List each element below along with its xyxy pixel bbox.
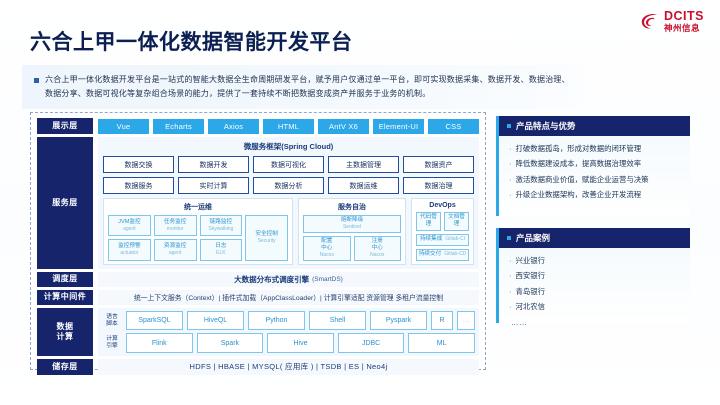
list-item: ·激活数据商业价值，赋能企业运营与决策 <box>509 174 680 185</box>
dot-icon: · <box>509 301 511 312</box>
language-chip[interactable]: R <box>431 311 453 331</box>
microservice-framework-title: 微服务框架(Spring Cloud) <box>103 141 474 152</box>
panel-devops: DevOps 代码管理 文档管理 持续集成 Gitlab-CI <box>411 198 474 265</box>
language-chip[interactable]: HiveQL <box>187 311 244 331</box>
brand-name-en: DCITS <box>664 10 704 23</box>
tech-tag[interactable]: Element-UI <box>373 119 424 134</box>
card-advantages: 产品特点与优势 ·打破数据孤岛，形成对数据的闭环管理 ·降低数据建设成本，提高数… <box>496 116 690 216</box>
layer-service: 服务层 微服务框架(Spring Cloud) 数据交换 数据开发 数据可视化 … <box>37 137 479 269</box>
list-item: ·打破数据孤岛，形成对数据的闭环管理 <box>509 143 680 154</box>
devops-cell-ci[interactable]: 持续集成 Gitlab-CI <box>416 234 469 246</box>
dot-icon: · <box>509 270 511 281</box>
service-module[interactable]: 数据运维 <box>328 177 399 194</box>
schedule-engine-bar: 大数据分布式调度引擎 (SmartDS) <box>98 272 479 287</box>
governance-cell-fuse[interactable]: 熔断降级 Sentinel <box>303 215 401 233</box>
layer-label-middleware: 计算中间件 <box>37 290 93 305</box>
governance-cell-registry[interactable]: 注册 中心 Nacos <box>354 236 402 261</box>
engine-chip[interactable]: ML <box>408 333 475 353</box>
card-header-cases: 产品案例 <box>499 228 690 248</box>
service-module[interactable]: 数据开发 <box>178 156 249 173</box>
tech-tag[interactable]: Axios <box>208 119 259 134</box>
layer-middleware: 计算中间件 统一上下文服务（Context）| 插件式加载（AppClassLo… <box>37 290 479 305</box>
dot-icon: · <box>509 143 511 154</box>
dot-icon: · <box>509 158 511 169</box>
panel-title-ops: 统一运维 <box>108 202 288 212</box>
card-cases: 产品案例 ·兴业银行 ·西安银行 ·青岛银行 ·河北农信 …… <box>496 228 690 323</box>
engine-chip[interactable]: JDBC <box>338 333 405 353</box>
brand-name-cn: 神州信息 <box>664 24 704 33</box>
devops-cell-code[interactable]: 代码管理 <box>416 212 441 231</box>
language-chip[interactable]: Python <box>248 311 305 331</box>
ops-cell[interactable]: 链路监控 Skywalking <box>200 215 243 236</box>
panel-title-devops: DevOps <box>416 202 469 209</box>
language-chip-row: SparkSQL HiveQL Python Shell Pyspark R … <box>126 311 475 331</box>
ops-cell[interactable]: 日志 ELK <box>200 239 243 260</box>
bullet-square-icon <box>507 124 511 128</box>
dot-icon: · <box>509 286 511 297</box>
dot-icon: · <box>509 189 511 200</box>
dcits-swoosh-icon <box>640 12 660 30</box>
layer-compute: 数据 计算 语言 脚本 计算 引擎 SparkSQL HiveQL Python <box>37 308 479 356</box>
tech-tag[interactable]: Echarts <box>153 119 204 134</box>
service-module[interactable]: 数据交换 <box>103 156 174 173</box>
architecture-diagram: 展示层 Vue Echarts Axios HTML AntV X6 Eleme… <box>30 112 486 370</box>
layer-label-storage: 储存层 <box>37 359 93 375</box>
engine-chip[interactable]: Flink <box>126 333 193 353</box>
presentation-tag-list: Vue Echarts Axios HTML AntV X6 Element-U… <box>98 118 479 134</box>
middleware-text: 统一上下文服务（Context）| 插件式加载（AppClassLoader）|… <box>98 290 479 305</box>
service-module[interactable]: 数据服务 <box>103 177 174 194</box>
brand-logo: DCITS 神州信息 <box>640 10 704 32</box>
schedule-engine-sub: (SmartDS) <box>312 276 343 283</box>
ops-cell[interactable]: JVM监控 agent <box>108 215 151 236</box>
schedule-engine-name: 大数据分布式调度引擎 <box>234 274 309 285</box>
list-item: ·西安银行 <box>509 270 680 281</box>
tech-tag[interactable]: Vue <box>98 119 149 134</box>
list-item: ·兴业银行 <box>509 255 680 266</box>
language-chip-more[interactable]: … <box>457 311 475 331</box>
list-item: ·降低数据建设成本，提高数据治理效率 <box>509 158 680 169</box>
card-title-advantages: 产品特点与优势 <box>516 120 576 132</box>
ops-cell-security[interactable]: 安全控制 Security <box>245 215 288 261</box>
language-chip[interactable]: SparkSQL <box>126 311 183 331</box>
layer-schedule: 调度层 大数据分布式调度引擎 (SmartDS) <box>37 272 479 287</box>
service-module[interactable]: 数据可视化 <box>253 156 324 173</box>
cases-list: ·兴业银行 ·西安银行 ·青岛银行 ·河北农信 …… <box>499 248 690 338</box>
dot-icon: · <box>509 174 511 185</box>
service-module[interactable]: 主数据管理 <box>328 156 399 173</box>
intro-text: 六合上甲一体化数据开发平台是一站式的智能大数据全生命周期研发平台，赋予用户仅通过… <box>45 73 572 101</box>
tech-tag[interactable]: CSS <box>428 119 479 134</box>
service-module[interactable]: 数据治理 <box>403 177 474 194</box>
slide-page: DCITS 神州信息 六合上甲一体化数据智能开发平台 六合上甲一体化数据开发平台… <box>0 0 720 405</box>
intro-banner: 六合上甲一体化数据开发平台是一站式的智能大数据全生命周期研发平台，赋予用户仅通过… <box>22 65 582 109</box>
list-item: ·青岛银行 <box>509 286 680 297</box>
ops-cell[interactable]: 任务监控 monitor <box>154 215 197 236</box>
panel-unified-ops: 统一运维 JVM监控 agent 监控预警 <box>103 198 293 265</box>
tech-tag[interactable]: HTML <box>263 119 314 134</box>
list-item: ·河北农信 <box>509 301 680 312</box>
card-title-cases: 产品案例 <box>516 232 550 244</box>
service-module[interactable]: 数据资产 <box>403 156 474 173</box>
governance-cell-config[interactable]: 配置 中心 Nacos <box>303 236 351 261</box>
advantages-list: ·打破数据孤岛，形成对数据的闭环管理 ·降低数据建设成本，提高数据治理效率 ·激… <box>499 136 690 211</box>
service-module-row-2: 数据服务 实时计算 数据分析 数据运维 数据治理 <box>103 177 474 194</box>
cases-more: …… <box>509 317 680 328</box>
layer-label-presentation: 展示层 <box>37 118 93 134</box>
page-title: 六合上甲一体化数据智能开发平台 <box>30 26 353 56</box>
engine-chip[interactable]: Spark <box>197 333 264 353</box>
layer-label-compute: 数据 计算 <box>37 308 93 356</box>
engine-chip-row: Flink Spark Hive JDBC ML <box>126 333 475 353</box>
bullet-square-icon <box>34 78 39 83</box>
layer-storage: 储存层 HDFS | HBASE | MYSQL( 应用库 ) | TSDB |… <box>37 359 479 375</box>
compute-label-language: 语言 脚本 <box>102 311 122 331</box>
panel-service-governance: 服务自治 熔断降级 Sentinel 配置 中心 <box>298 198 406 265</box>
storage-text: HDFS | HBASE | MYSQL( 应用库 ) | TSDB | ES … <box>98 359 479 375</box>
compute-label-engine: 计算 引擎 <box>102 333 122 353</box>
bullet-square-icon <box>507 236 511 240</box>
layer-label-schedule: 调度层 <box>37 272 93 287</box>
devops-cell-cd[interactable]: 持续交付 Gitlab-CD <box>416 249 469 261</box>
layer-presentation: 展示层 Vue Echarts Axios HTML AntV X6 Eleme… <box>37 118 479 134</box>
language-chip[interactable]: Shell <box>309 311 366 331</box>
ops-cell[interactable]: 监控预警 actuator <box>108 239 151 260</box>
service-module[interactable]: 数据分析 <box>253 177 324 194</box>
layer-label-service: 服务层 <box>37 137 93 269</box>
engine-chip[interactable]: Hive <box>267 333 334 353</box>
list-item: ·升级企业数据架构，改善企业开发流程 <box>509 189 680 200</box>
language-chip[interactable]: Pyspark <box>370 311 427 331</box>
ops-cell[interactable]: 资源监控 agent <box>154 239 197 260</box>
tech-tag[interactable]: AntV X6 <box>318 119 369 134</box>
card-header-advantages: 产品特点与优势 <box>499 116 690 136</box>
service-module[interactable]: 实时计算 <box>178 177 249 194</box>
service-module-row-1: 数据交换 数据开发 数据可视化 主数据管理 数据资产 <box>103 156 474 173</box>
devops-cell-doc[interactable]: 文档管理 <box>444 212 469 231</box>
panel-title-governance: 服务自治 <box>303 202 401 212</box>
dot-icon: · <box>509 255 511 266</box>
